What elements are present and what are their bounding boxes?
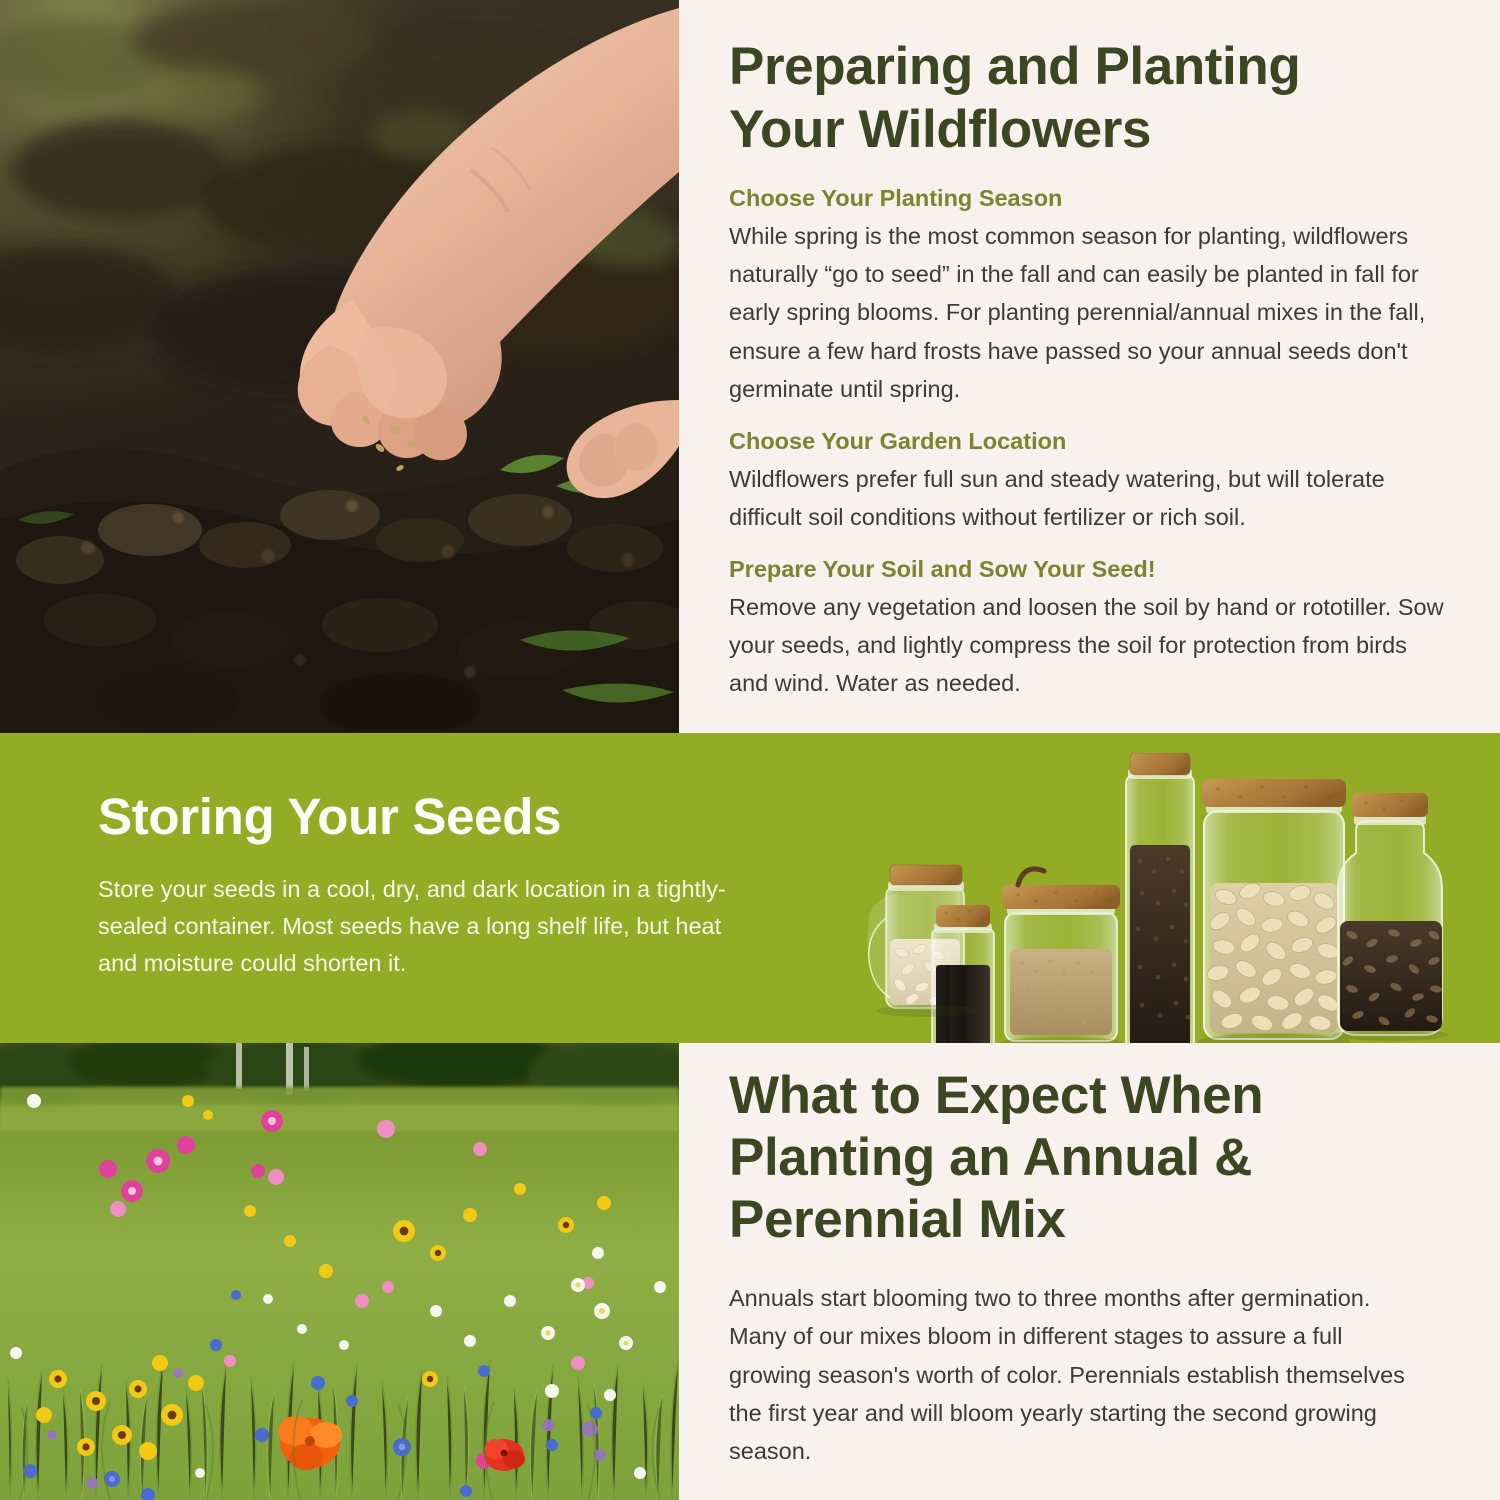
infographic-page: Preparing and Planting Your Wildflowers … [0, 0, 1500, 1500]
storing-seeds-title: Storing Your Seeds [98, 789, 738, 845]
storing-seeds-body: Store your seeds in a cool, dry, and dar… [98, 871, 738, 982]
section-what-to-expect: What to Expect When Planting an Annual &… [0, 1043, 1500, 1500]
what-to-expect-body: Annuals start blooming two to three mont… [729, 1279, 1429, 1470]
section-top-text-column: Preparing and Planting Your Wildflowers … [729, 0, 1444, 733]
section-storing-your-seeds: Storing Your Seeds Store your seeds in a… [0, 733, 1500, 1043]
wildflower-meadow-photo [0, 1043, 679, 1500]
body-garden-location: Wildflowers prefer full sun and steady w… [729, 460, 1444, 537]
subheading-garden-location: Choose Your Garden Location [729, 426, 1444, 457]
text-block-prepare-soil: Prepare Your Soil and Sow Your Seed! Rem… [729, 554, 1444, 702]
section-bottom-text-column: What to Expect When Planting an Annual &… [729, 1043, 1429, 1500]
body-planting-season: While spring is the most common season f… [729, 217, 1444, 408]
page-title: Preparing and Planting Your Wildflowers [729, 36, 1444, 161]
hand-sowing-seeds-photo [0, 0, 679, 733]
body-prepare-soil: Remove any vegetation and loosen the soi… [729, 588, 1444, 703]
subheading-planting-season: Choose Your Planting Season [729, 183, 1444, 214]
text-block-garden-location: Choose Your Garden Location Wildflowers … [729, 426, 1444, 536]
what-to-expect-title: What to Expect When Planting an Annual &… [729, 1065, 1429, 1251]
seed-jars-photo [850, 753, 1450, 1043]
section-preparing-planting: Preparing and Planting Your Wildflowers … [0, 0, 1500, 733]
subheading-prepare-soil: Prepare Your Soil and Sow Your Seed! [729, 554, 1444, 585]
text-block-planting-season: Choose Your Planting Season While spring… [729, 183, 1444, 408]
band-text-column: Storing Your Seeds Store your seeds in a… [98, 789, 738, 982]
